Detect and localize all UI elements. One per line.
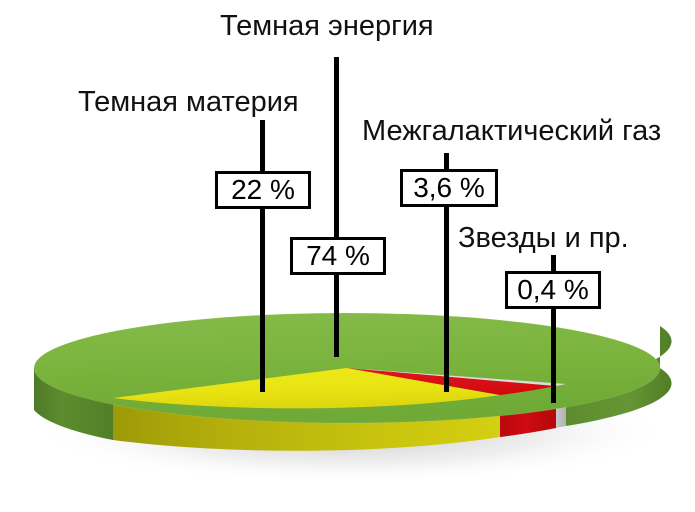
leader-line-dark-energy <box>334 57 339 357</box>
label-intergalactic-gas: Межгалактический газ <box>362 116 661 147</box>
percent-box-stars: 0,4 % <box>505 271 601 309</box>
percent-box-intergalactic-gas: 3,6 % <box>400 169 498 207</box>
leader-line-dark-matter <box>260 120 265 392</box>
pie-chart-figure: Темная энергия Темная материя Межгалакти… <box>0 0 695 512</box>
percent-box-dark-matter: 22 % <box>215 171 311 209</box>
label-dark-matter: Темная материя <box>78 87 299 118</box>
label-stars: Звезды и пр. <box>458 223 629 254</box>
percent-box-dark-energy: 74 % <box>290 237 386 275</box>
label-dark-energy: Темная энергия <box>220 11 434 42</box>
